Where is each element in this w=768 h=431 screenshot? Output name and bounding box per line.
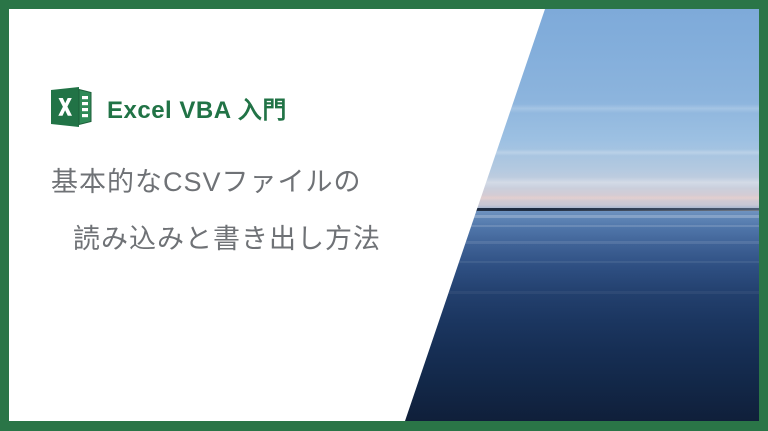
thumbnail-card: Excel VBA 入門 基本的なCSVファイルの 読み込みと書き出し方法 — [0, 0, 768, 431]
card-inner-canvas: Excel VBA 入門 基本的なCSVファイルの 読み込みと書き出し方法 — [9, 9, 759, 421]
brand-label: Excel VBA 入門 — [107, 90, 287, 125]
headline-line-2: 読み込みと書き出し方法 — [73, 226, 411, 253]
excel-icon — [51, 87, 93, 127]
headline-line-1: 基本的なCSVファイルの — [51, 169, 411, 196]
text-block: Excel VBA 入門 基本的なCSVファイルの 読み込みと書き出し方法 — [9, 9, 439, 421]
headline: 基本的なCSVファイルの 読み込みと書き出し方法 — [51, 169, 411, 253]
brand-row: Excel VBA 入門 — [51, 87, 287, 127]
